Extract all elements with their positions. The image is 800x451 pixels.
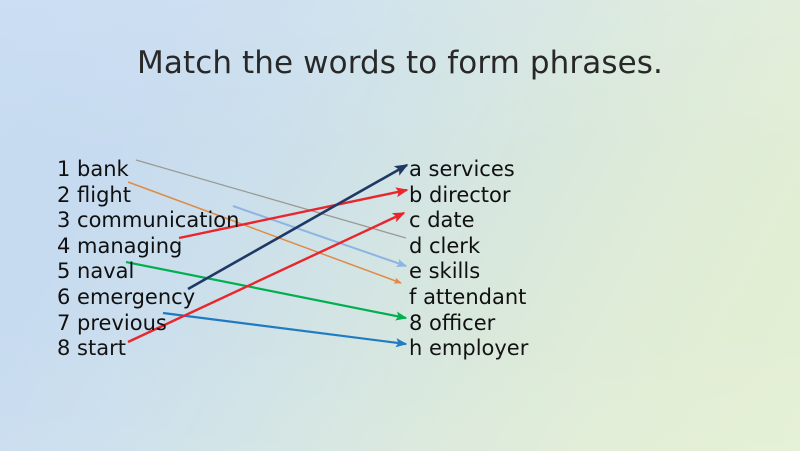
right-word-item-g[interactable]: 8 officer (409, 311, 528, 337)
right-word-item-d[interactable]: d clerk (409, 234, 528, 260)
right-word-column: a servicesb directorc dated clerke skill… (409, 157, 528, 362)
left-word-column: 1 bank2 flight3 communication4 managing5… (57, 157, 239, 362)
left-word-item-label: 1 bank (57, 157, 129, 181)
left-word-item-5[interactable]: 5 naval (57, 259, 239, 285)
right-word-item-label: e skills (409, 259, 480, 283)
right-word-item-a[interactable]: a services (409, 157, 528, 183)
left-word-item-2[interactable]: 2 flight (57, 183, 239, 209)
left-word-item-label: 8 start (57, 336, 126, 360)
left-word-item-7[interactable]: 7 previous (57, 311, 239, 337)
left-word-item-8[interactable]: 8 start (57, 336, 239, 362)
right-word-item-h[interactable]: h employer (409, 336, 528, 362)
right-word-item-c[interactable]: c date (409, 208, 528, 234)
left-word-item-3[interactable]: 3 communication (57, 208, 239, 234)
right-word-item-label: 8 officer (409, 311, 495, 335)
right-word-item-label: d clerk (409, 234, 480, 258)
page-title: Match the words to form phrases. (0, 44, 800, 82)
left-word-item-label: 3 communication (57, 208, 239, 232)
right-word-item-label: c date (409, 208, 475, 232)
right-word-item-label: h employer (409, 336, 528, 360)
slide-canvas: Match the words to form phrases. 1 bank2… (0, 0, 800, 451)
left-word-item-label: 5 naval (57, 259, 134, 283)
left-word-item-label: 6 emergency (57, 285, 195, 309)
right-word-item-b[interactable]: b director (409, 183, 528, 209)
left-word-item-4[interactable]: 4 managing (57, 234, 239, 260)
right-word-item-e[interactable]: e skills (409, 259, 528, 285)
right-word-item-label: a services (409, 157, 515, 181)
left-word-item-1[interactable]: 1 bank (57, 157, 239, 183)
right-word-item-label: b director (409, 183, 511, 207)
left-word-item-label: 2 flight (57, 183, 131, 207)
right-word-item-f[interactable]: f attendant (409, 285, 528, 311)
connector-communication-to-skills (233, 206, 406, 266)
left-word-item-6[interactable]: 6 emergency (57, 285, 239, 311)
right-word-item-label: f attendant (409, 285, 526, 309)
left-word-item-label: 4 managing (57, 234, 182, 258)
left-word-item-label: 7 previous (57, 311, 167, 335)
